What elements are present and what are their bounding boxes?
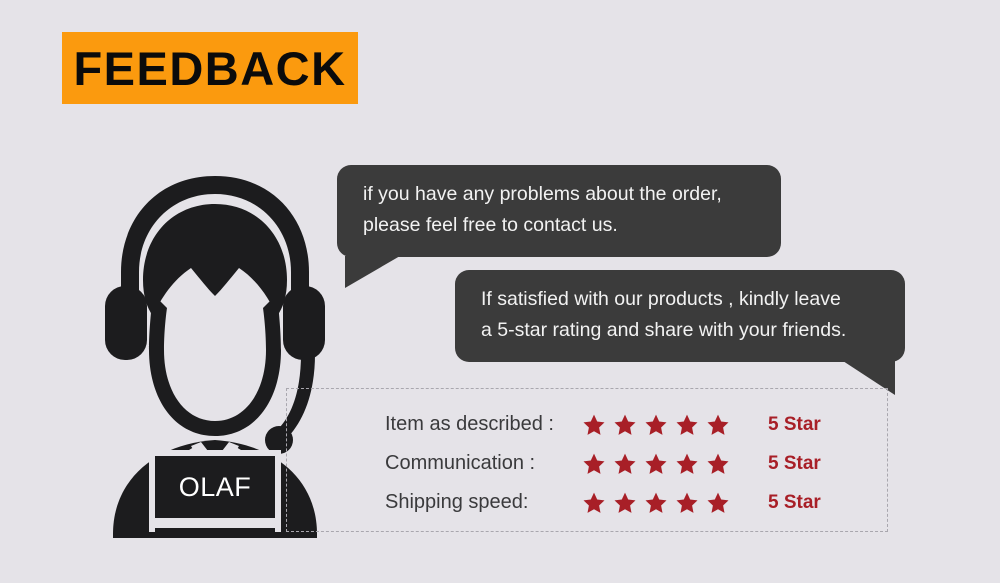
star-icon — [706, 413, 730, 437]
rating-stars — [582, 413, 750, 437]
bubble-support-line-1: if you have any problems about the order… — [363, 179, 757, 210]
star-icon — [582, 491, 606, 515]
star-icon — [675, 413, 699, 437]
feedback-banner: FEEDBACK — [62, 32, 358, 104]
rating-value: 5 Star — [750, 414, 821, 436]
speech-bubble-support: if you have any problems about the order… — [337, 165, 781, 257]
star-icon — [644, 491, 668, 515]
star-icon — [706, 452, 730, 476]
laptop-brand-label: OLAF — [179, 472, 252, 502]
rating-stars — [582, 452, 750, 476]
page-title: FEEDBACK — [73, 45, 346, 92]
rating-label: Communication : — [385, 452, 582, 475]
star-icon — [644, 413, 668, 437]
star-icon — [613, 413, 637, 437]
rating-label: Item as described : — [385, 413, 582, 436]
rating-row-item-as-described: Item as described : 5 Star — [385, 405, 855, 444]
speech-bubble-tail-icon — [345, 256, 400, 288]
star-icon — [644, 452, 668, 476]
star-icon — [706, 491, 730, 515]
feedback-banner-page: FEEDBACK — [0, 0, 1000, 583]
bubble-rating-line-2: a 5-star rating and share with your frie… — [481, 315, 881, 346]
star-icon — [675, 452, 699, 476]
bubble-rating-line-1: If satisfied with our products , kindly … — [481, 284, 881, 315]
star-icon — [613, 452, 637, 476]
star-icon — [582, 413, 606, 437]
star-icon — [613, 491, 637, 515]
star-icon — [582, 452, 606, 476]
rating-value: 5 Star — [750, 492, 821, 514]
rating-label: Shipping speed: — [385, 491, 582, 514]
rating-row-shipping-speed: Shipping speed: 5 Star — [385, 483, 855, 522]
rating-stars — [582, 491, 750, 515]
speech-bubble-rating-request: If satisfied with our products , kindly … — [455, 270, 905, 362]
rating-value: 5 Star — [750, 453, 821, 475]
rating-row-communication: Communication : 5 Star — [385, 444, 855, 483]
bubble-support-line-2: please feel free to contact us. — [363, 210, 757, 241]
star-icon — [675, 491, 699, 515]
ratings-list: Item as described : 5 Star Communication… — [385, 405, 855, 522]
